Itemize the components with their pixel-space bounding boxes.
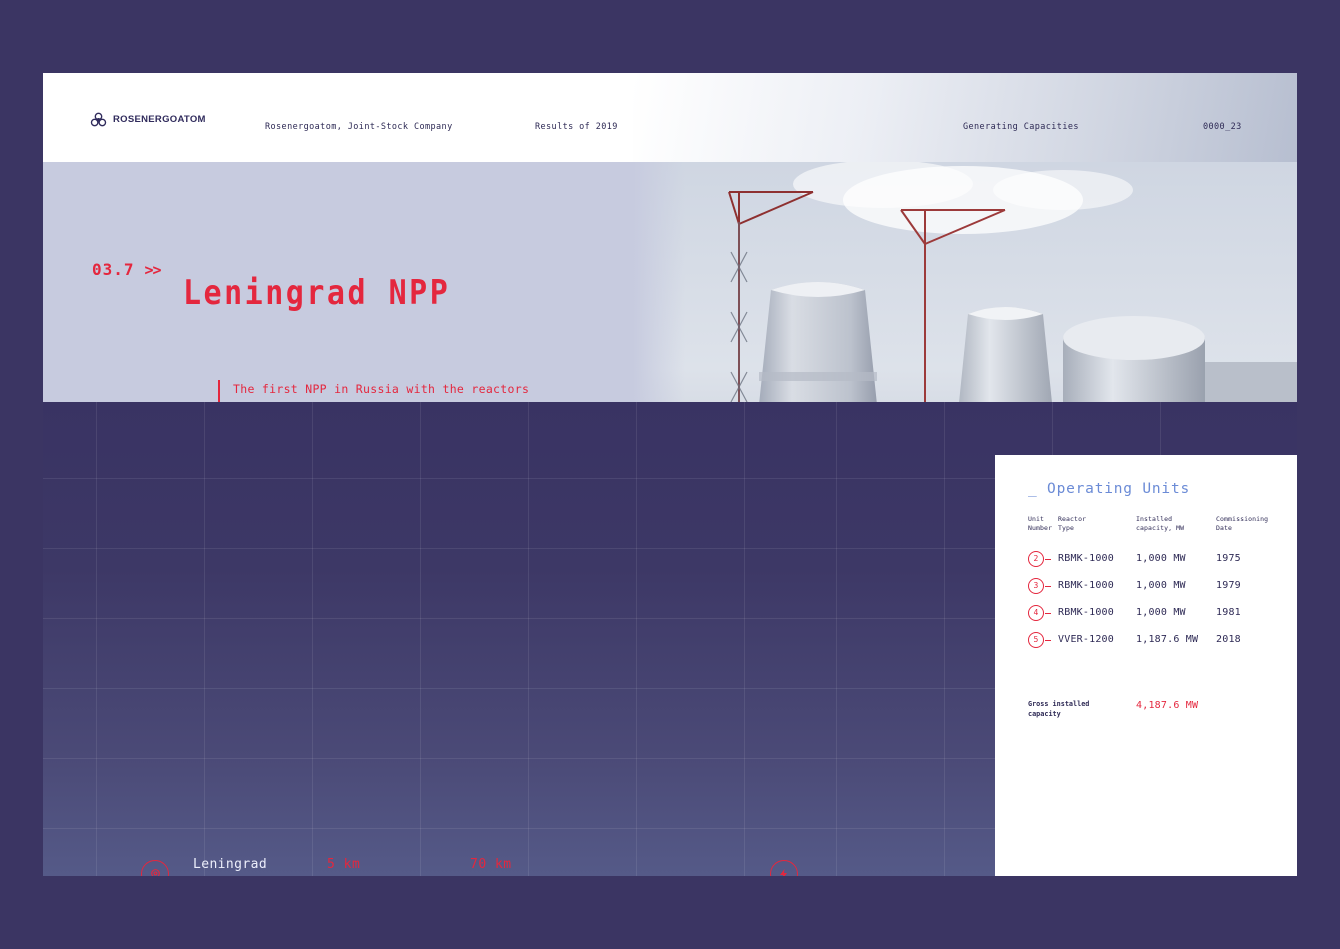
chapter-arrows-icon: >> (145, 261, 161, 279)
unit-reactor-type: RBMK-1000 (1058, 553, 1136, 564)
column-header-capacity: Installed capacity, MW (1136, 515, 1216, 533)
slide-canvas: ROSENERGOATOM Rosenergoatom, Joint-Stock… (43, 73, 1297, 876)
page-title: Leningrad NPP (183, 274, 450, 313)
table-row: 3 RBMK-1000 1,000 MW 1979 (1028, 572, 1276, 599)
unit-capacity: 1,000 MW (1136, 607, 1216, 618)
unit-date: 1979 (1216, 580, 1276, 591)
unit-reactor-type: RBMK-1000 (1058, 607, 1136, 618)
chapter-marker: 03.7 >> (92, 260, 161, 279)
distance-value: 70 km (470, 857, 610, 872)
table-row: 4 RBMK-1000 1,000 MW 1981 (1028, 599, 1276, 626)
table-row: 2 RBMK-1000 1,000 MW 1975 (1028, 545, 1276, 572)
table-header-row: Unit Number Reactor Type Installed capac… (1028, 515, 1276, 533)
distance-value: 5 km (327, 857, 406, 872)
header-results-label: Results of 2019 (535, 122, 618, 132)
distance-regional-center: 70 km away from the regional center (Sai… (470, 857, 610, 876)
region-name: Leningrad Oblast (193, 855, 267, 876)
unit-date: 1975 (1216, 553, 1276, 564)
rosenergoatom-logo-icon (90, 111, 107, 128)
slide-header: ROSENERGOATOM Rosenergoatom, Joint-Stock… (43, 73, 1297, 162)
unit-number-badge: 5 (1028, 632, 1044, 648)
unit-capacity: 1,000 MW (1136, 580, 1216, 591)
header-company-name: Rosenergoatom, Joint-Stock Company (265, 122, 453, 132)
header-photo-strip (633, 73, 1297, 162)
gross-capacity-value: 4,187.6 MW (1136, 700, 1198, 719)
header-section-label: Generating Capacities (963, 122, 1079, 132)
table-row: 5 VVER-1200 1,187.6 MW 2018 (1028, 626, 1276, 653)
unit-date: 2018 (1216, 634, 1276, 645)
unit-date: 1981 (1216, 607, 1276, 618)
operating-units-title: _ Operating Units (1028, 481, 1190, 497)
unit-reactor-type: VVER-1200 (1058, 634, 1136, 645)
distance-satellite-town: 5 km away from the satellite town of Sos… (327, 857, 406, 876)
operating-units-panel: _ Operating Units Unit Number Reactor Ty… (995, 455, 1297, 876)
unit-number-badge: 3 (1028, 578, 1044, 594)
column-header-unit-number: Unit Number (1028, 515, 1058, 533)
header-slide-code: 0000_23 (1203, 122, 1242, 132)
unit-capacity: 1,187.6 MW (1136, 634, 1216, 645)
unit-reactor-type: RBMK-1000 (1058, 580, 1136, 591)
gross-installed-capacity-row: Gross installed capacity 4,187.6 MW (1028, 700, 1276, 719)
unit-capacity: 1,000 MW (1136, 553, 1216, 564)
unit-number-badge: 2 (1028, 551, 1044, 567)
rosenergoatom-logo: ROSENERGOATOM (90, 111, 206, 128)
gross-capacity-label: Gross installed capacity (1028, 700, 1136, 719)
operating-units-table: Unit Number Reactor Type Installed capac… (1028, 515, 1276, 653)
chapter-number: 03.7 (92, 260, 135, 279)
logo-wordmark: ROSENERGOATOM (113, 114, 206, 125)
column-header-reactor-type: Reactor Type (1058, 515, 1136, 533)
unit-number-badge: 4 (1028, 605, 1044, 621)
column-header-commissioning: Commissioning Date (1216, 515, 1276, 533)
